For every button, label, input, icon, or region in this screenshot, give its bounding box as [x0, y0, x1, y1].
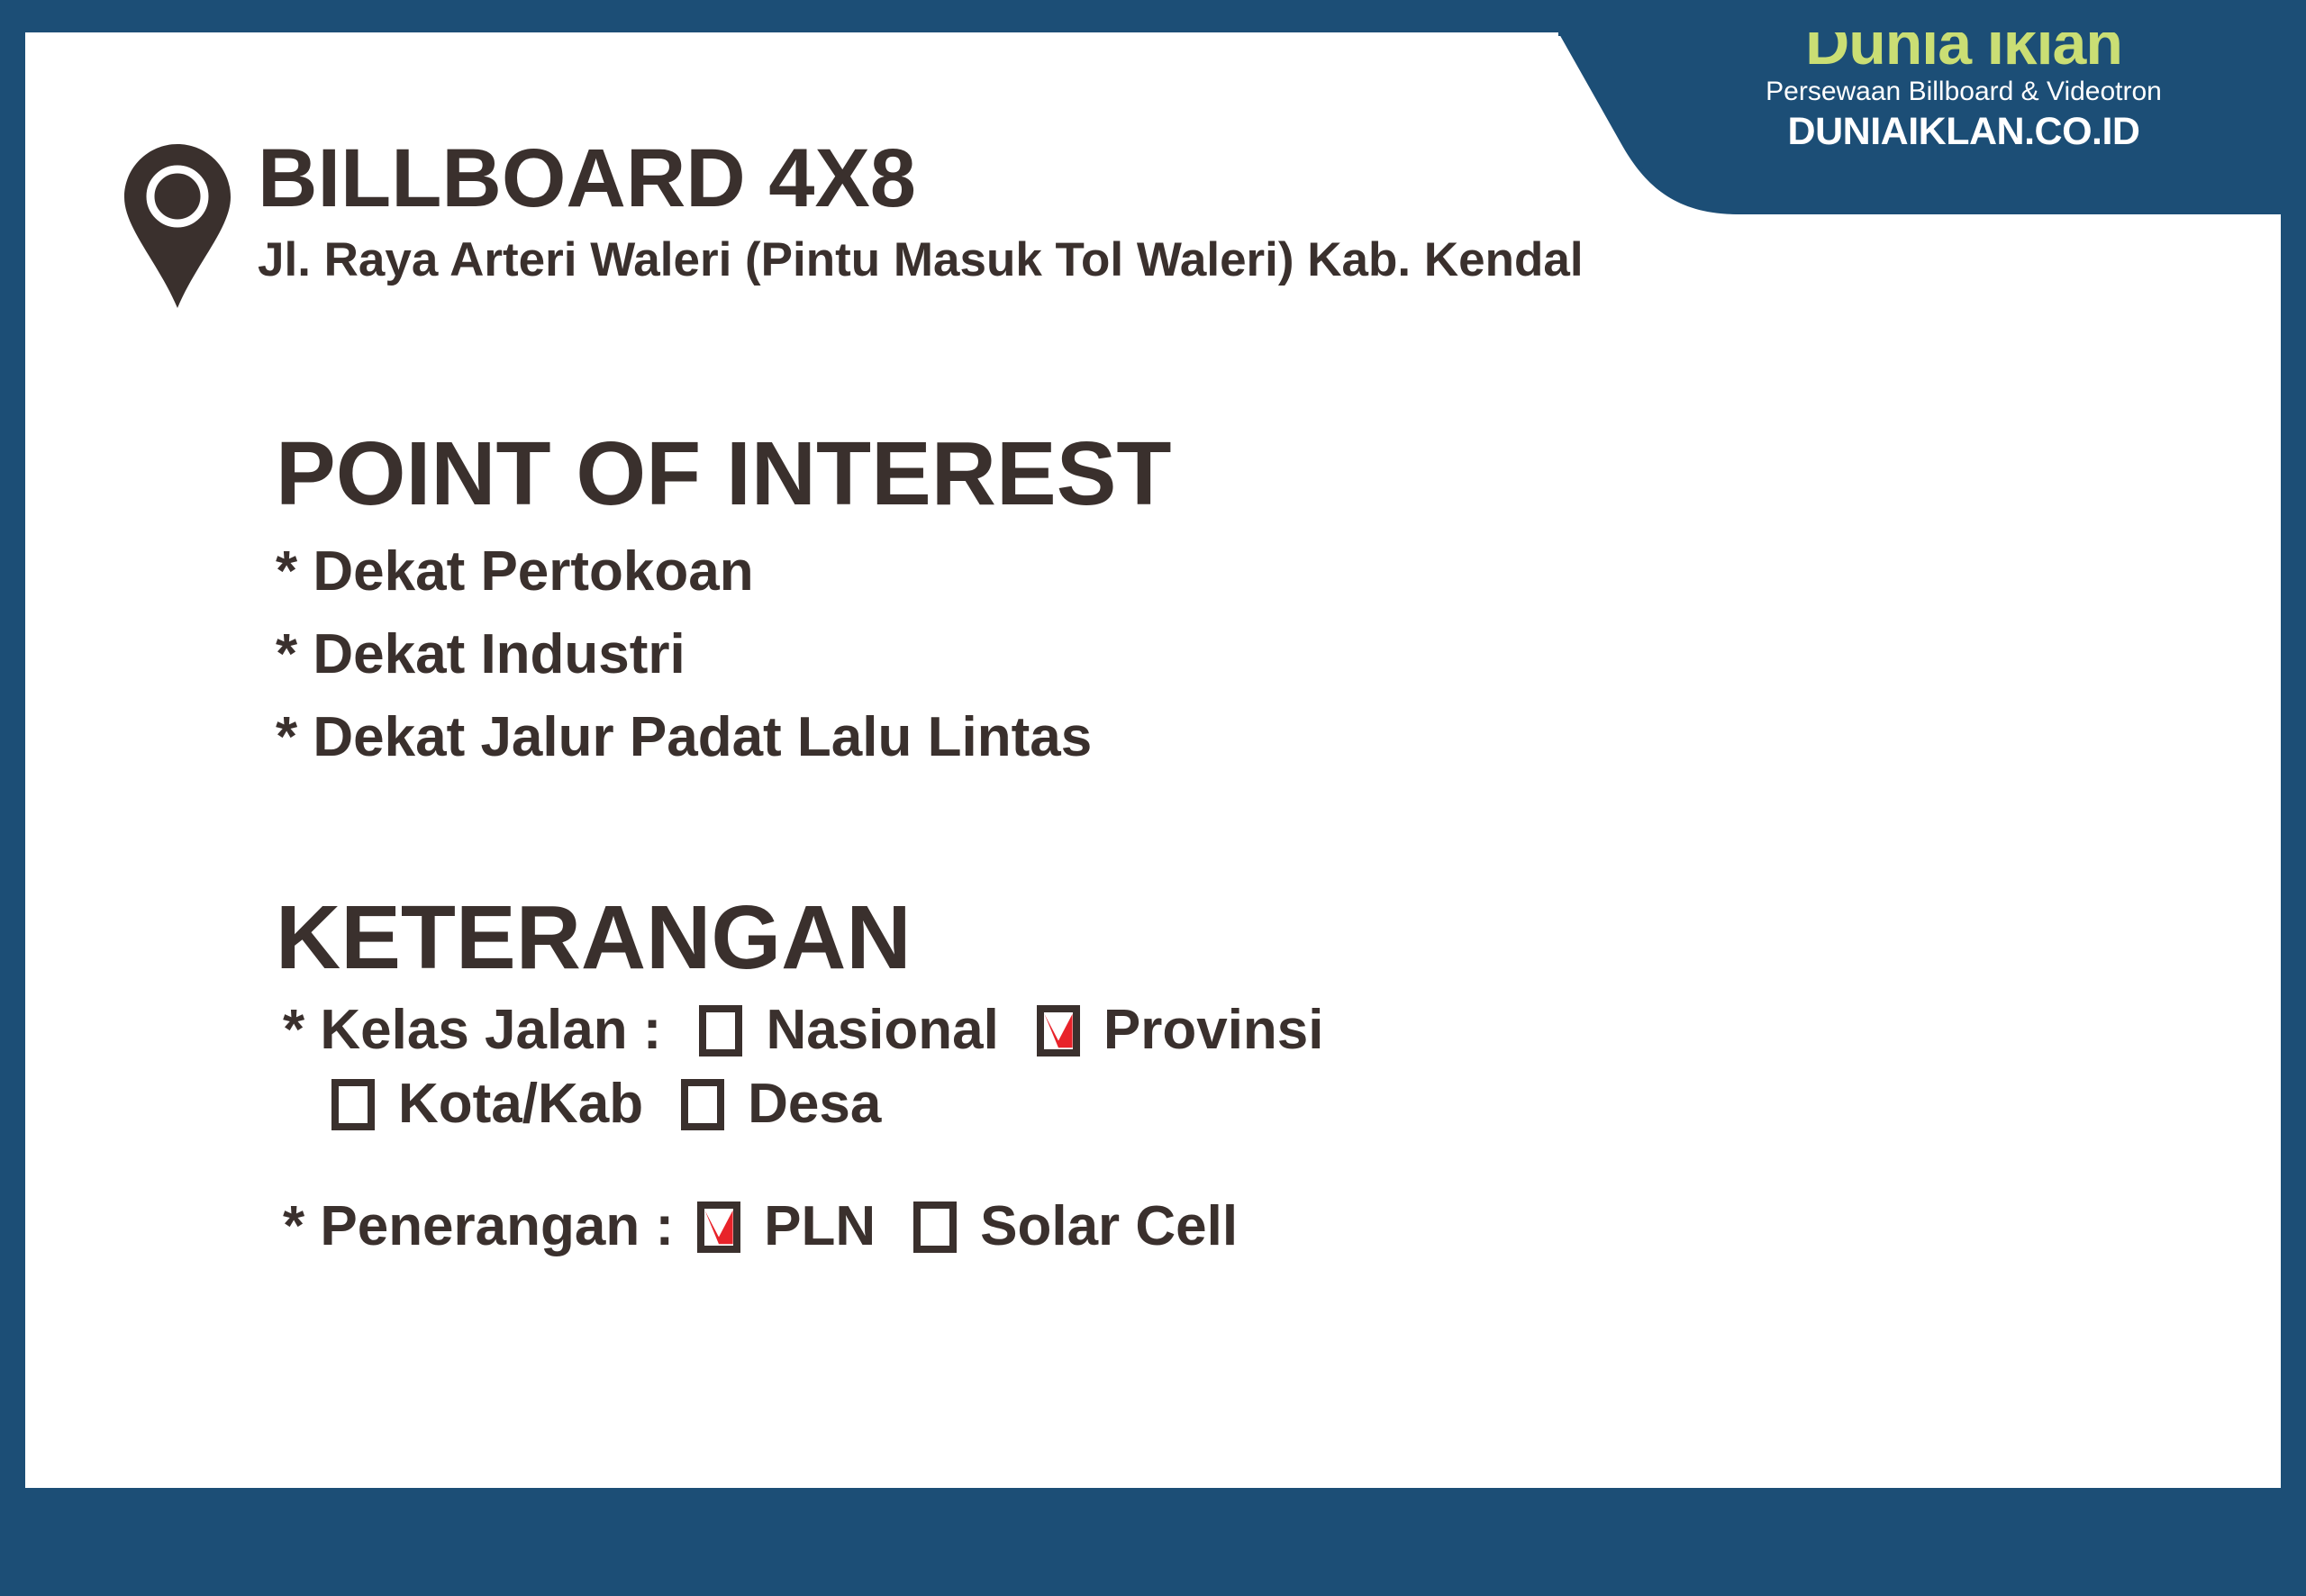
kelas-jalan-label: * Kelas Jalan : — [283, 1002, 661, 1058]
checkbox-kota-kab[interactable] — [331, 1079, 375, 1130]
brand-url: DUNIAIKLAN.CO.ID — [1788, 111, 2140, 153]
brand-tagline: Persewaan Billboard & Videotron — [1766, 77, 2162, 108]
option-label-nasional: Nasional — [766, 1002, 998, 1058]
poi-list: * Dekat Pertokoan * Dekat Industri * Dek… — [276, 544, 1171, 766]
keterangan-rows: * Kelas Jalan : Nasional Provinsi — [276, 1002, 1324, 1255]
checkbox-desa[interactable] — [681, 1079, 724, 1130]
keterangan-heading: KETERANGAN — [276, 893, 1324, 983]
header: BILLBOARD 4X8 Jl. Raya Arteri Waleri (Pi… — [124, 137, 1584, 308]
brand-logo: Dunia Iklan Persewaan Billboard & Videot… — [1558, 32, 2281, 214]
option-label-pln: PLN — [764, 1199, 876, 1255]
poi-heading: POINT OF INTEREST — [276, 429, 1171, 519]
checkbox-pln[interactable] — [697, 1202, 740, 1253]
address-line: Jl. Raya Arteri Waleri (Pintu Masuk Tol … — [258, 234, 1584, 286]
list-item: * Dekat Jalur Padat Lalu Lintas — [276, 710, 1171, 766]
page-title: BILLBOARD 4X8 — [258, 137, 1584, 220]
option-label-provinsi: Provinsi — [1103, 1002, 1324, 1058]
check-mark-icon — [1043, 1011, 1074, 1050]
check-mark-icon — [704, 1208, 734, 1247]
list-item: * Dekat Pertokoan — [276, 544, 1171, 600]
option-label-solar-cell: Solar Cell — [980, 1199, 1238, 1255]
brand-name: Dunia Iklan — [1805, 32, 2122, 75]
billboard-info-card: Dunia Iklan Persewaan Billboard & Videot… — [25, 32, 2281, 1488]
kelas-jalan-row-1: * Kelas Jalan : Nasional Provinsi — [283, 1002, 1324, 1058]
point-of-interest-section: POINT OF INTEREST * Dekat Pertokoan * De… — [276, 429, 1171, 793]
map-pin-icon — [124, 144, 231, 308]
checkbox-provinsi[interactable] — [1037, 1005, 1080, 1056]
option-label-kota-kab: Kota/Kab — [398, 1076, 643, 1132]
checkbox-solar-cell[interactable] — [913, 1202, 957, 1253]
list-item: * Dekat Industri — [276, 627, 1171, 683]
kelas-jalan-row-2: Kota/Kab Desa — [331, 1076, 1324, 1132]
penerangan-row: * Penerangan : PLN Solar Cell — [283, 1199, 1324, 1255]
checkbox-nasional[interactable] — [699, 1005, 742, 1056]
option-label-desa: Desa — [748, 1076, 881, 1132]
penerangan-label: * Penerangan : — [283, 1199, 674, 1255]
keterangan-section: KETERANGAN * Kelas Jalan : Nasional — [276, 893, 1324, 1255]
